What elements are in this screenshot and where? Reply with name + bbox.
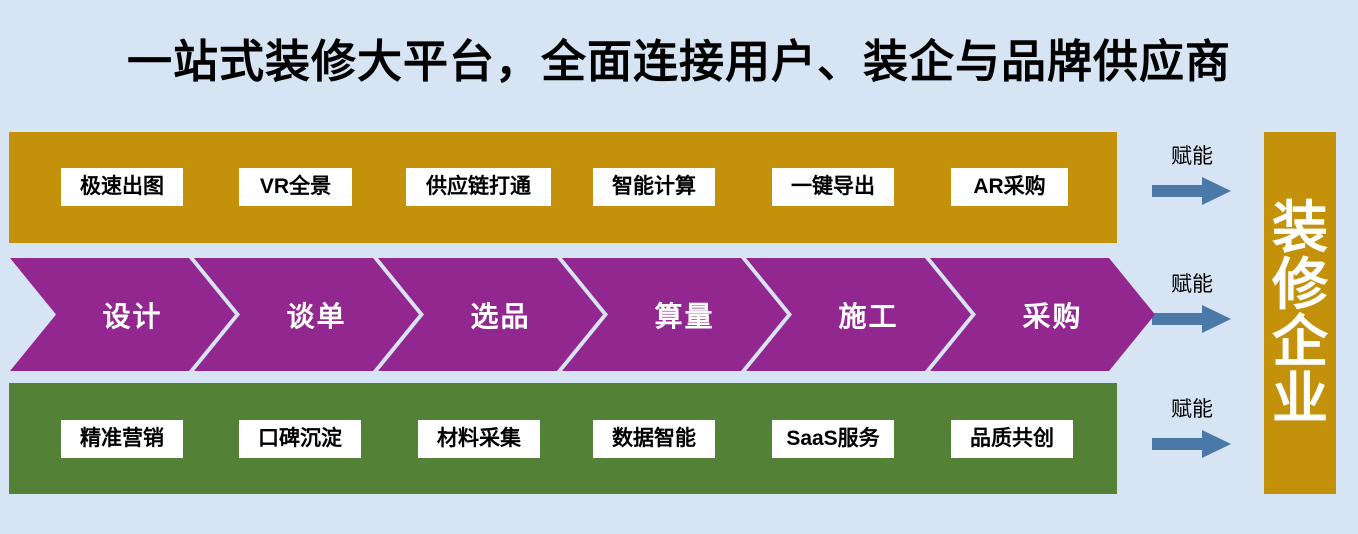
top-capability-band: 极速出图VR全景供应链打通智能计算一键导出AR采购 bbox=[9, 132, 1117, 243]
pillar-char-1: 装 bbox=[1272, 199, 1328, 256]
capability-chip-1[interactable]: 极速出图 bbox=[61, 168, 183, 206]
pillar-char-2: 修 bbox=[1272, 256, 1328, 313]
right-arrow-icon bbox=[1152, 429, 1232, 459]
enable-label: 赋能 bbox=[1144, 397, 1240, 423]
process-step-label: 采购 bbox=[1022, 295, 1082, 335]
process-step-1[interactable]: 设计 bbox=[10, 258, 235, 371]
process-step-label: 施工 bbox=[838, 295, 898, 335]
enable-arrow-top: 赋能 bbox=[1144, 144, 1240, 216]
pillar-char-3: 企 bbox=[1272, 313, 1328, 370]
enable-arrow-bottom: 赋能 bbox=[1144, 397, 1240, 469]
service-chip-1[interactable]: 精准营销 bbox=[61, 420, 183, 458]
service-chip-4[interactable]: 数据智能 bbox=[593, 420, 715, 458]
capability-chip-4[interactable]: 智能计算 bbox=[593, 168, 715, 206]
enable-label: 赋能 bbox=[1144, 144, 1240, 170]
page-title: 一站式装修大平台，全面连接用户、装企与品牌供应商 bbox=[0, 34, 1358, 90]
pillar-char-4: 业 bbox=[1272, 370, 1328, 427]
bottom-service-band: 精准营销口碑沉淀材料采集数据智能SaaS服务品质共创 bbox=[9, 383, 1117, 494]
capability-chip-6[interactable]: AR采购 bbox=[951, 168, 1068, 206]
capability-chip-3[interactable]: 供应链打通 bbox=[406, 168, 551, 206]
right-arrow-icon bbox=[1152, 176, 1232, 206]
pillar-label: 装修企业 bbox=[1264, 132, 1336, 494]
capability-chip-5[interactable]: 一键导出 bbox=[772, 168, 894, 206]
diagram-canvas: 一站式装修大平台，全面连接用户、装企与品牌供应商 极速出图VR全景供应链打通智能… bbox=[0, 0, 1358, 534]
service-chip-6[interactable]: 品质共创 bbox=[951, 420, 1073, 458]
right-arrow-icon bbox=[1152, 304, 1232, 334]
enable-arrow-middle: 赋能 bbox=[1144, 272, 1240, 344]
decoration-enterprise-pillar: 装修企业 bbox=[1264, 132, 1336, 494]
service-chip-5[interactable]: SaaS服务 bbox=[772, 420, 894, 458]
service-chip-3[interactable]: 材料采集 bbox=[418, 420, 540, 458]
process-step-label: 算量 bbox=[654, 295, 714, 335]
process-step-label: 选品 bbox=[470, 295, 530, 335]
service-chip-2[interactable]: 口碑沉淀 bbox=[239, 420, 361, 458]
process-step-label: 谈单 bbox=[286, 295, 346, 335]
process-step-label: 设计 bbox=[102, 295, 162, 335]
enable-label: 赋能 bbox=[1144, 272, 1240, 298]
capability-chip-2[interactable]: VR全景 bbox=[239, 168, 352, 206]
